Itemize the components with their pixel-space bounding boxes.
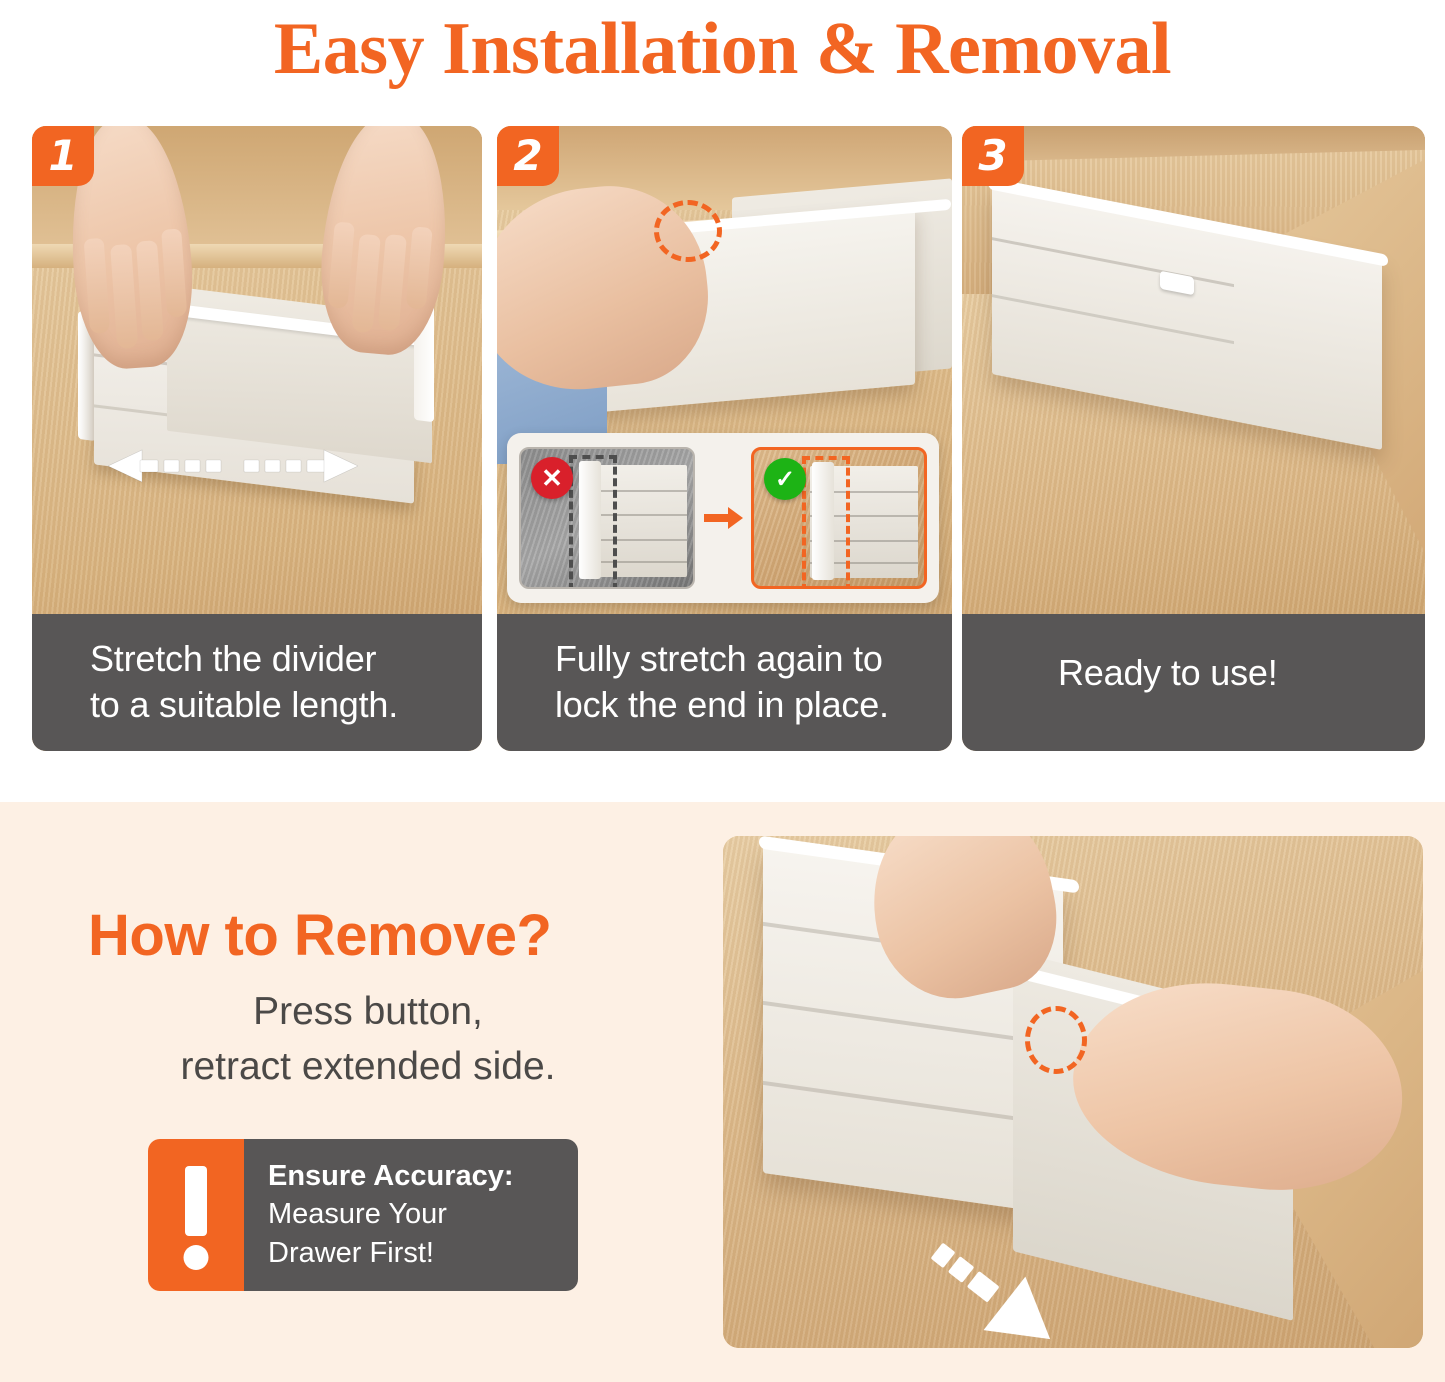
cross-icon: ✕ <box>531 457 573 499</box>
lock-button-highlight-circle-icon <box>1025 1006 1087 1074</box>
orange-dashed-outline <box>802 456 850 589</box>
correct-example-image: ✓ <box>751 447 927 589</box>
grey-dashed-outline <box>569 455 617 589</box>
comparison-arrow-icon <box>695 507 751 529</box>
removal-photo <box>723 836 1423 1348</box>
retract-direction-arrow-icon <box>915 1236 1075 1348</box>
exclamation-mark-icon <box>148 1139 244 1291</box>
remove-subtext-line-1: Press button, <box>88 984 648 1039</box>
wrong-example-image: ✕ <box>519 447 695 589</box>
step-2-caption-line-1: Fully stretch again to <box>555 636 952 682</box>
comparison-inset-card: ✕ ✓ <box>507 433 939 603</box>
stretch-direction-arrow <box>108 444 358 490</box>
exclamation-bar <box>185 1166 207 1236</box>
step-2-caption-line-2: lock the end in place. <box>555 682 952 728</box>
step-2-number-badge: 2 <box>497 126 559 186</box>
how-to-remove-section: How to Remove? Press button, retract ext… <box>0 802 1445 1382</box>
notice-line-3: Drawer First! <box>268 1234 578 1272</box>
notice-text: Ensure Accuracy: Measure Your Drawer Fir… <box>244 1139 578 1291</box>
step-panel-3: 3 Ready to use! <box>962 126 1425 751</box>
step-panel-2: ✕ ✓ 2 Fully stretch again to lock the en <box>497 126 952 751</box>
step-2-caption: Fully stretch again to lock the end in p… <box>497 614 952 751</box>
page-title: Easy Installation & Removal <box>0 0 1445 98</box>
notice-title: Ensure Accuracy: <box>268 1157 578 1195</box>
step-3-number-badge: 3 <box>962 126 1024 186</box>
step-1-caption: Stretch the divider to a suitable length… <box>32 614 482 751</box>
step-1-number-badge: 1 <box>32 126 94 186</box>
remove-subtext-line-2: retract extended side. <box>88 1039 648 1094</box>
check-icon: ✓ <box>764 458 806 500</box>
exclamation-dot <box>184 1245 209 1270</box>
notice-line-2: Measure Your <box>268 1195 578 1233</box>
how-to-remove-heading: How to Remove? <box>88 902 552 969</box>
ensure-accuracy-notice-badge: Ensure Accuracy: Measure Your Drawer Fir… <box>148 1139 578 1291</box>
how-to-remove-subtext: Press button, retract extended side. <box>88 984 648 1095</box>
step-panel-1: 1 Stretch the divider to a suitable leng… <box>32 126 482 751</box>
step-3-caption-line-1: Ready to use! <box>1058 650 1425 696</box>
lock-button-highlight-circle-icon <box>654 200 722 262</box>
step-1-caption-line-1: Stretch the divider <box>90 636 482 682</box>
installation-steps-row: 1 Stretch the divider to a suitable leng… <box>32 126 1425 751</box>
step-3-caption: Ready to use! <box>962 614 1425 751</box>
step-1-caption-line-2: to a suitable length. <box>90 682 482 728</box>
